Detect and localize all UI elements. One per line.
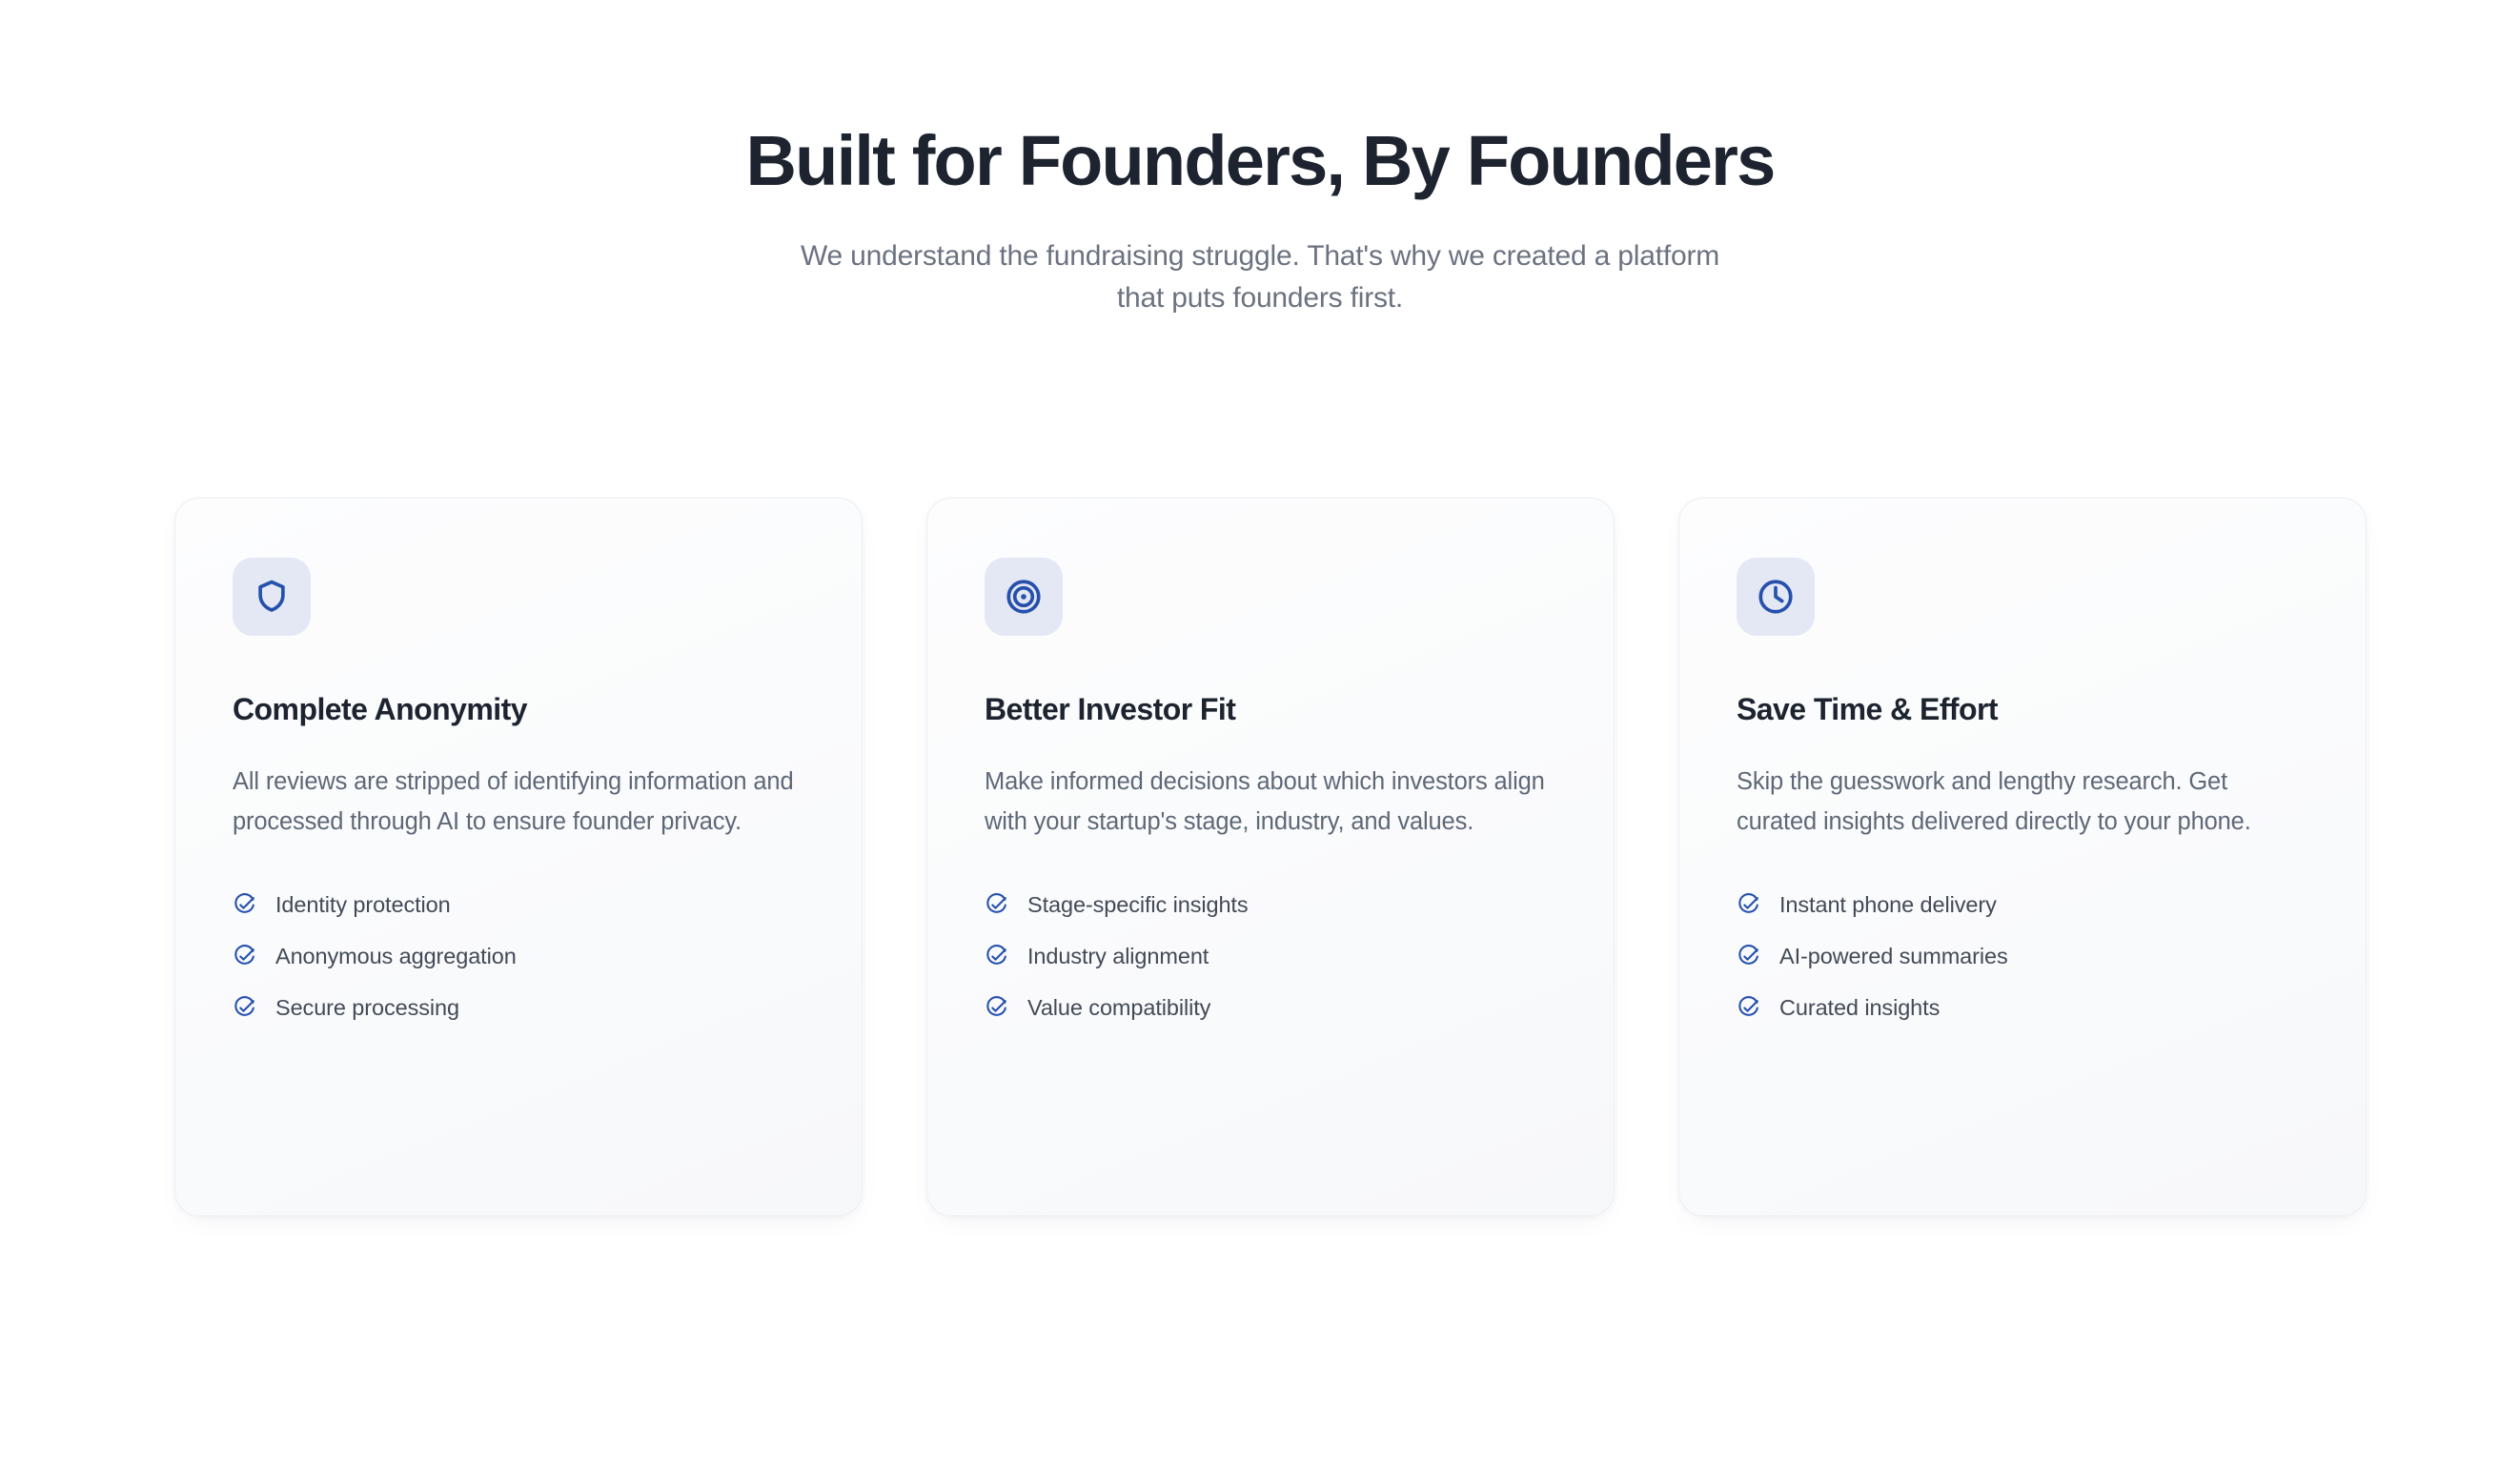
card-description: Skip the guesswork and lengthy research.… [1737, 763, 2308, 842]
list-item: AI-powered summaries [1737, 943, 2308, 969]
feature-label: Secure processing [275, 994, 459, 1021]
list-item: Secure processing [233, 994, 804, 1021]
page-title: Built for Founders, By Founders [0, 122, 2520, 199]
feature-label: Instant phone delivery [1779, 891, 1997, 918]
card-title: Save Time & Effort [1737, 691, 2308, 727]
check-circle-icon [233, 893, 256, 917]
feature-label: AI-powered summaries [1779, 943, 2008, 969]
feature-label: Curated insights [1779, 994, 1940, 1021]
feature-card-save-time-effort[interactable]: Save Time & Effort Skip the guesswork an… [1678, 498, 2367, 1216]
clock-icon [1756, 577, 1796, 617]
check-circle-icon [1737, 996, 1760, 1020]
card-title: Complete Anonymity [233, 691, 804, 727]
card-icon-tile [985, 558, 1063, 636]
check-circle-icon [985, 893, 1008, 917]
section-header: Built for Founders, By Founders We under… [0, 122, 2520, 318]
feature-label: Stage-specific insights [1027, 891, 1249, 918]
page-subtitle-line-2: that puts founders first. [0, 277, 2520, 319]
card-icon-tile [233, 558, 311, 636]
shield-icon [252, 577, 292, 617]
feature-card-list: Complete Anonymity All reviews are strip… [174, 498, 2368, 1216]
card-feature-list: Identity protection Anonymous aggregatio… [233, 891, 804, 1022]
feature-card-better-investor-fit[interactable]: Better Investor Fit Make informed decisi… [926, 498, 1615, 1216]
feature-label: Anonymous aggregation [275, 943, 517, 969]
list-item: Instant phone delivery [1737, 891, 2308, 918]
list-item: Value compatibility [985, 994, 1556, 1021]
list-item: Identity protection [233, 891, 804, 918]
check-circle-icon [233, 945, 256, 968]
check-circle-icon [985, 945, 1008, 968]
check-circle-icon [1737, 893, 1760, 917]
list-item: Stage-specific insights [985, 891, 1556, 918]
card-icon-tile [1737, 558, 1815, 636]
target-icon [1004, 577, 1044, 617]
page-subtitle-line-1: We understand the fundraising struggle. … [0, 235, 2520, 277]
page-subtitle: We understand the fundraising struggle. … [0, 235, 2520, 318]
feature-card-complete-anonymity[interactable]: Complete Anonymity All reviews are strip… [174, 498, 863, 1216]
list-item: Anonymous aggregation [233, 943, 804, 969]
list-item: Industry alignment [985, 943, 1556, 969]
list-item: Curated insights [1737, 994, 2308, 1021]
card-description: Make informed decisions about which inve… [985, 763, 1556, 842]
feature-label: Value compatibility [1027, 994, 1210, 1021]
check-circle-icon [985, 996, 1008, 1020]
features-section: Built for Founders, By Founders We under… [0, 0, 2520, 1466]
check-circle-icon [1737, 945, 1760, 968]
check-circle-icon [233, 996, 256, 1020]
card-feature-list: Instant phone delivery AI-powered summar… [1737, 891, 2308, 1022]
card-title: Better Investor Fit [985, 691, 1556, 727]
feature-label: Identity protection [275, 891, 451, 918]
card-description: All reviews are stripped of identifying … [233, 763, 804, 842]
feature-label: Industry alignment [1027, 943, 1209, 969]
card-feature-list: Stage-specific insights Industry alignme… [985, 891, 1556, 1022]
